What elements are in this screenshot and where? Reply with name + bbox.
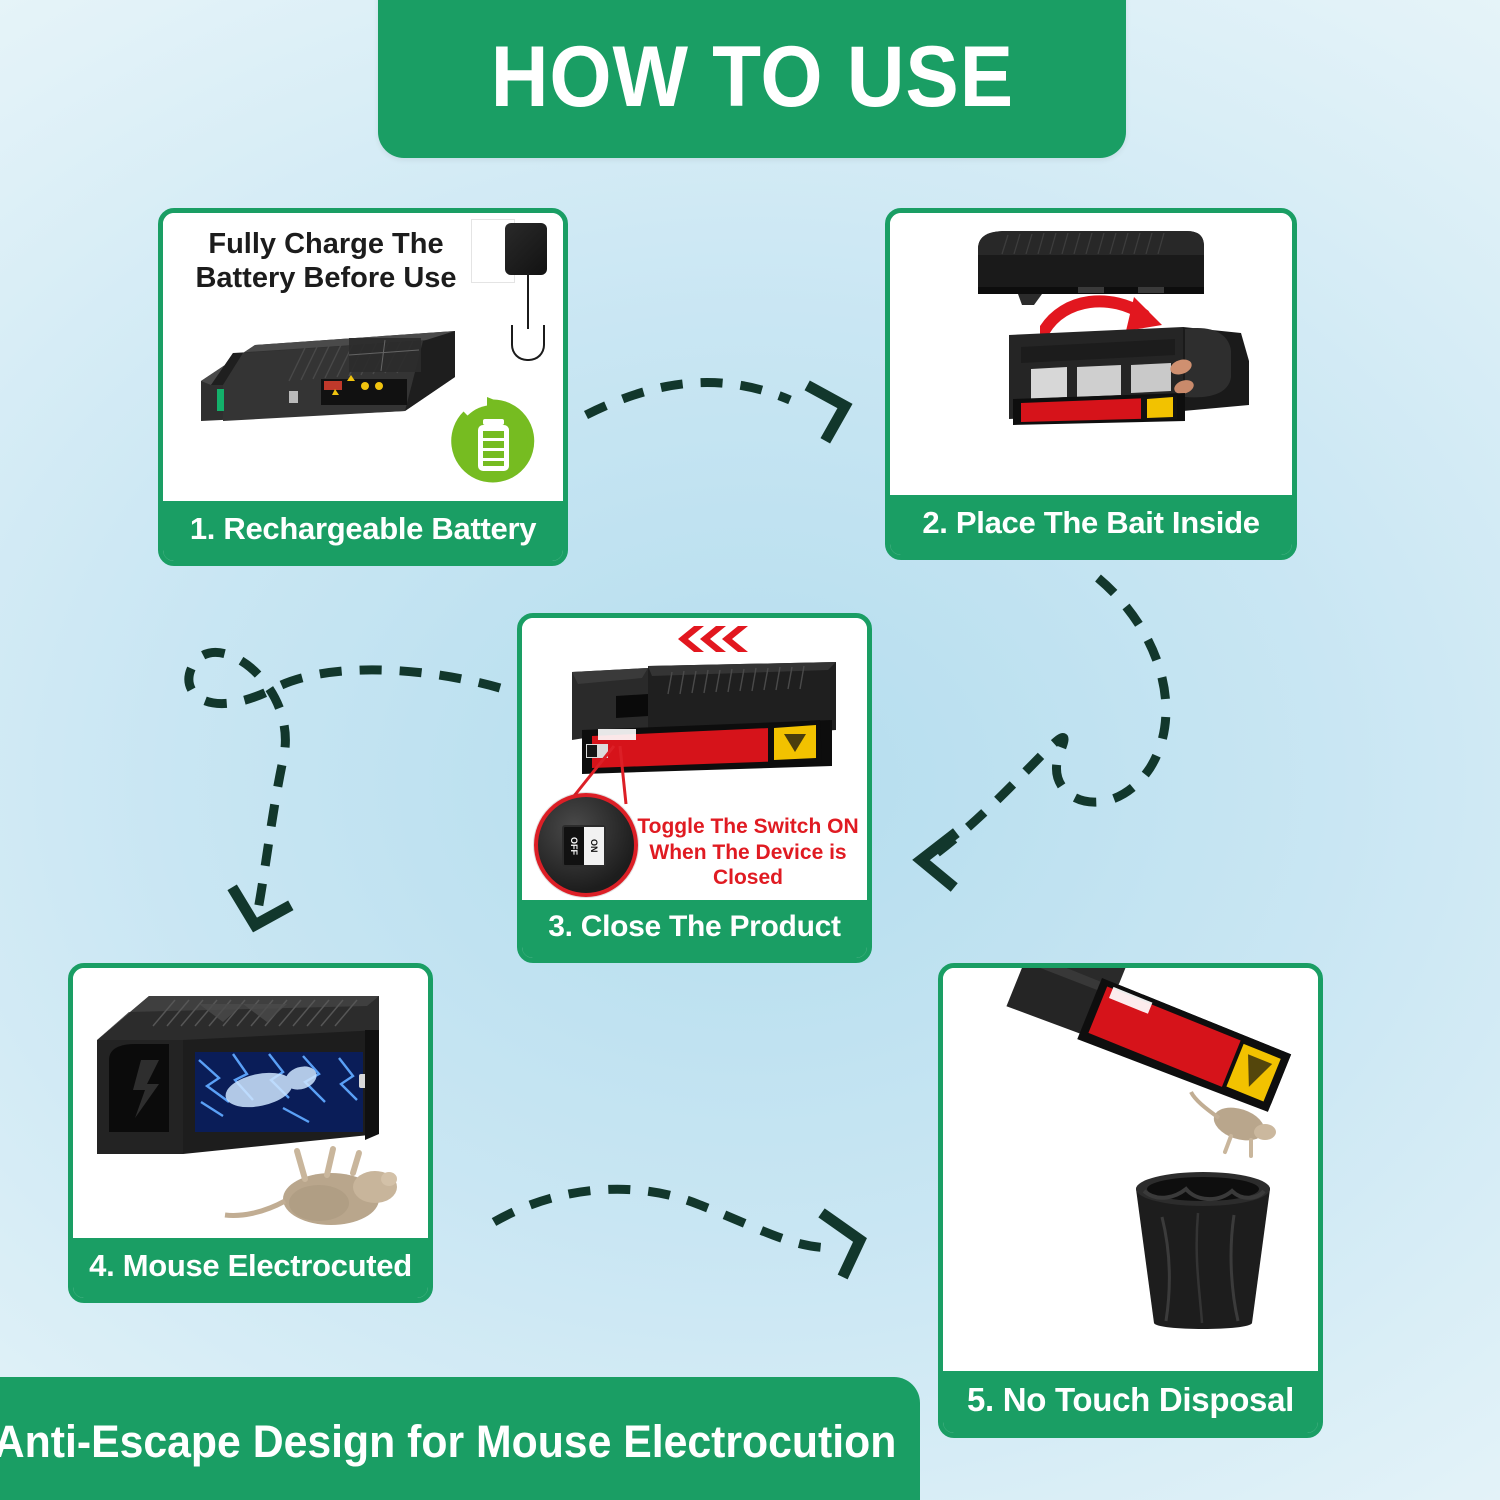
step-card-2: 2. Place The Bait Inside — [885, 208, 1297, 560]
switch-off-label: OFF — [564, 827, 584, 865]
step-4-photo — [73, 968, 428, 1238]
trash-bin-icon — [1128, 1163, 1278, 1333]
overlay-title-line-2: Battery Before Use — [191, 261, 461, 295]
step-3-note: Toggle The Switch ON When The Device is … — [634, 814, 862, 891]
header-banner: HOW TO USE — [378, 0, 1126, 158]
charging-cord-icon — [527, 273, 529, 329]
step-3-note-line-1: Toggle The Switch ON — [634, 814, 862, 840]
footer-tagline: Anti-Escape Design for Mouse Electrocuti… — [0, 1377, 896, 1464]
magnifier-circle-icon: OFF ON — [534, 793, 638, 897]
arrow-step4-to-step5-path — [494, 1189, 835, 1248]
arrow-step2-to-step3-path — [930, 578, 1166, 858]
arrowhead-1-icon — [812, 388, 845, 436]
dead-mouse-icon — [223, 1143, 408, 1228]
charging-cord-loop-icon — [511, 325, 545, 361]
infographic-canvas: HOW TO USE Fully Charge The Battery Befo… — [0, 0, 1500, 1500]
step-2-photo — [890, 213, 1292, 495]
battery-recycle-icon — [447, 393, 539, 485]
arrowhead-3-icon — [235, 892, 286, 925]
arrowhead-4-icon — [826, 1216, 860, 1272]
step-card-4: 4. Mouse Electrocuted — [68, 963, 433, 1303]
overlay-title-line-1: Fully Charge The — [191, 227, 461, 261]
charging-adapter-icon — [505, 223, 547, 275]
step-4-caption: 4. Mouse Electrocuted — [73, 1238, 428, 1298]
arrow-step3-to-step4-path — [189, 652, 500, 910]
step-3-note-line-2: When The Device is Closed — [634, 840, 862, 891]
power-switch-icon: OFF ON — [562, 825, 606, 867]
step-card-1: Fully Charge The Battery Before Use — [158, 208, 568, 566]
step-5-caption: 5. No Touch Disposal — [943, 1371, 1318, 1433]
footer-banner: Anti-Escape Design for Mouse Electrocuti… — [0, 1377, 920, 1500]
trap-base-open-icon — [1005, 325, 1255, 427]
rat-trap-device-icon — [193, 305, 461, 435]
step-1-photo: Fully Charge The Battery Before Use — [163, 213, 563, 501]
arrowhead-2-icon — [921, 836, 952, 884]
step-1-caption: 1. Rechargeable Battery — [163, 501, 563, 561]
page-title: HOW TO USE — [490, 34, 1013, 158]
step-card-5: 5. No Touch Disposal — [938, 963, 1323, 1438]
step-5-photo — [943, 968, 1318, 1371]
arrow-step1-to-step2-path — [586, 382, 790, 415]
switch-on-label: ON — [584, 827, 604, 865]
step-card-3: OFF ON Toggle The Switch ON When The Dev… — [517, 613, 872, 963]
step-2-caption: 2. Place The Bait Inside — [890, 495, 1292, 555]
step-3-photo: OFF ON Toggle The Switch ON When The Dev… — [522, 618, 867, 900]
step-3-caption: 3. Close The Product — [522, 900, 867, 958]
step-1-overlay-title: Fully Charge The Battery Before Use — [191, 227, 461, 295]
